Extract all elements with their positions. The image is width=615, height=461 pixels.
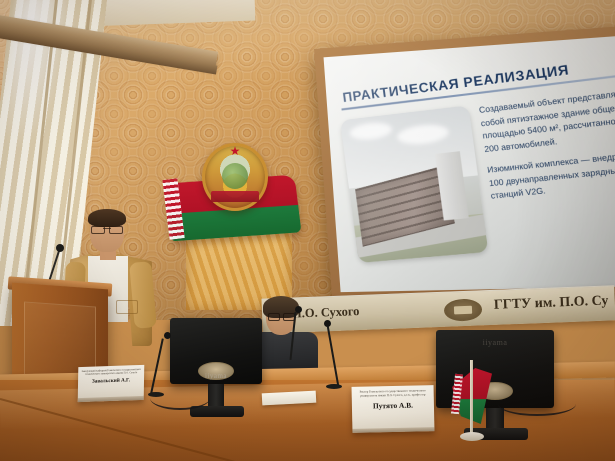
desk-flag-base (460, 432, 484, 441)
desk-cable (150, 386, 210, 410)
university-emblem-icon (444, 298, 483, 321)
nameplate-left-subtitle: Заведующий кафедрой Гомельского государс… (80, 368, 142, 376)
belarus-emblem-display: ★ (178, 143, 286, 253)
ribbon-icon (211, 191, 259, 202)
monitor-right-brand-logo: iiyama (483, 338, 508, 347)
conference-hall-photo: ★ ПРАКТИЧЕСКАЯ РЕАЛИЗАЦИЯ Создаваемый (0, 0, 615, 461)
nameplate-left: Заведующий кафедрой Гомельского государс… (78, 365, 145, 402)
nameplate-left-name: Завальский А.Г. (80, 377, 142, 385)
star-icon: ★ (230, 145, 241, 157)
globe-icon (222, 163, 248, 189)
speaker-jacket-pocket-right (116, 300, 138, 314)
speaker-right-arm (129, 261, 157, 329)
desk-cable-2 (498, 392, 576, 416)
microphone-base-2 (326, 384, 342, 389)
desk-flag-pole (470, 360, 473, 436)
nameplate-right-subtitle: Ректор Гомельского государственного техн… (355, 389, 431, 398)
slide-paragraph-2: Изюминкой комплекса — внедрение 100 двун… (487, 149, 615, 204)
speaker-glasses-icon (91, 226, 123, 232)
monitor-left-brand-logo: iiyama (205, 372, 227, 380)
slide-body-text: Создаваемый объект представляет собой пя… (478, 87, 615, 212)
projection-screen: ПРАКТИЧЕСКАЯ РЕАЛИЗАЦИЯ Создаваемый объе… (324, 35, 615, 292)
seated-person-glasses-icon (268, 313, 295, 319)
coat-of-arms-icon: ★ (202, 143, 268, 211)
slide-building-photo (340, 105, 488, 263)
slide-paragraph-1: Создаваемый объект представляет собой пя… (478, 87, 615, 157)
microphone-head-icon (164, 332, 171, 339)
speaker-hair (88, 209, 126, 227)
nameplate-right: Ректор Гомельского государственного техн… (352, 385, 435, 433)
belarus-desk-flag (448, 358, 496, 450)
monitor-left-stand-neck (208, 384, 224, 408)
projection-screen-frame: ПРАКТИЧЕСКАЯ РЕАЛИЗАЦИЯ Создаваемый объе… (314, 25, 615, 298)
monitor-left-stand-base (190, 406, 244, 417)
banner-right-text: ГГТУ им. П.О. Су (494, 293, 609, 313)
nameplate-right-name: Путято А.В. (355, 401, 431, 412)
